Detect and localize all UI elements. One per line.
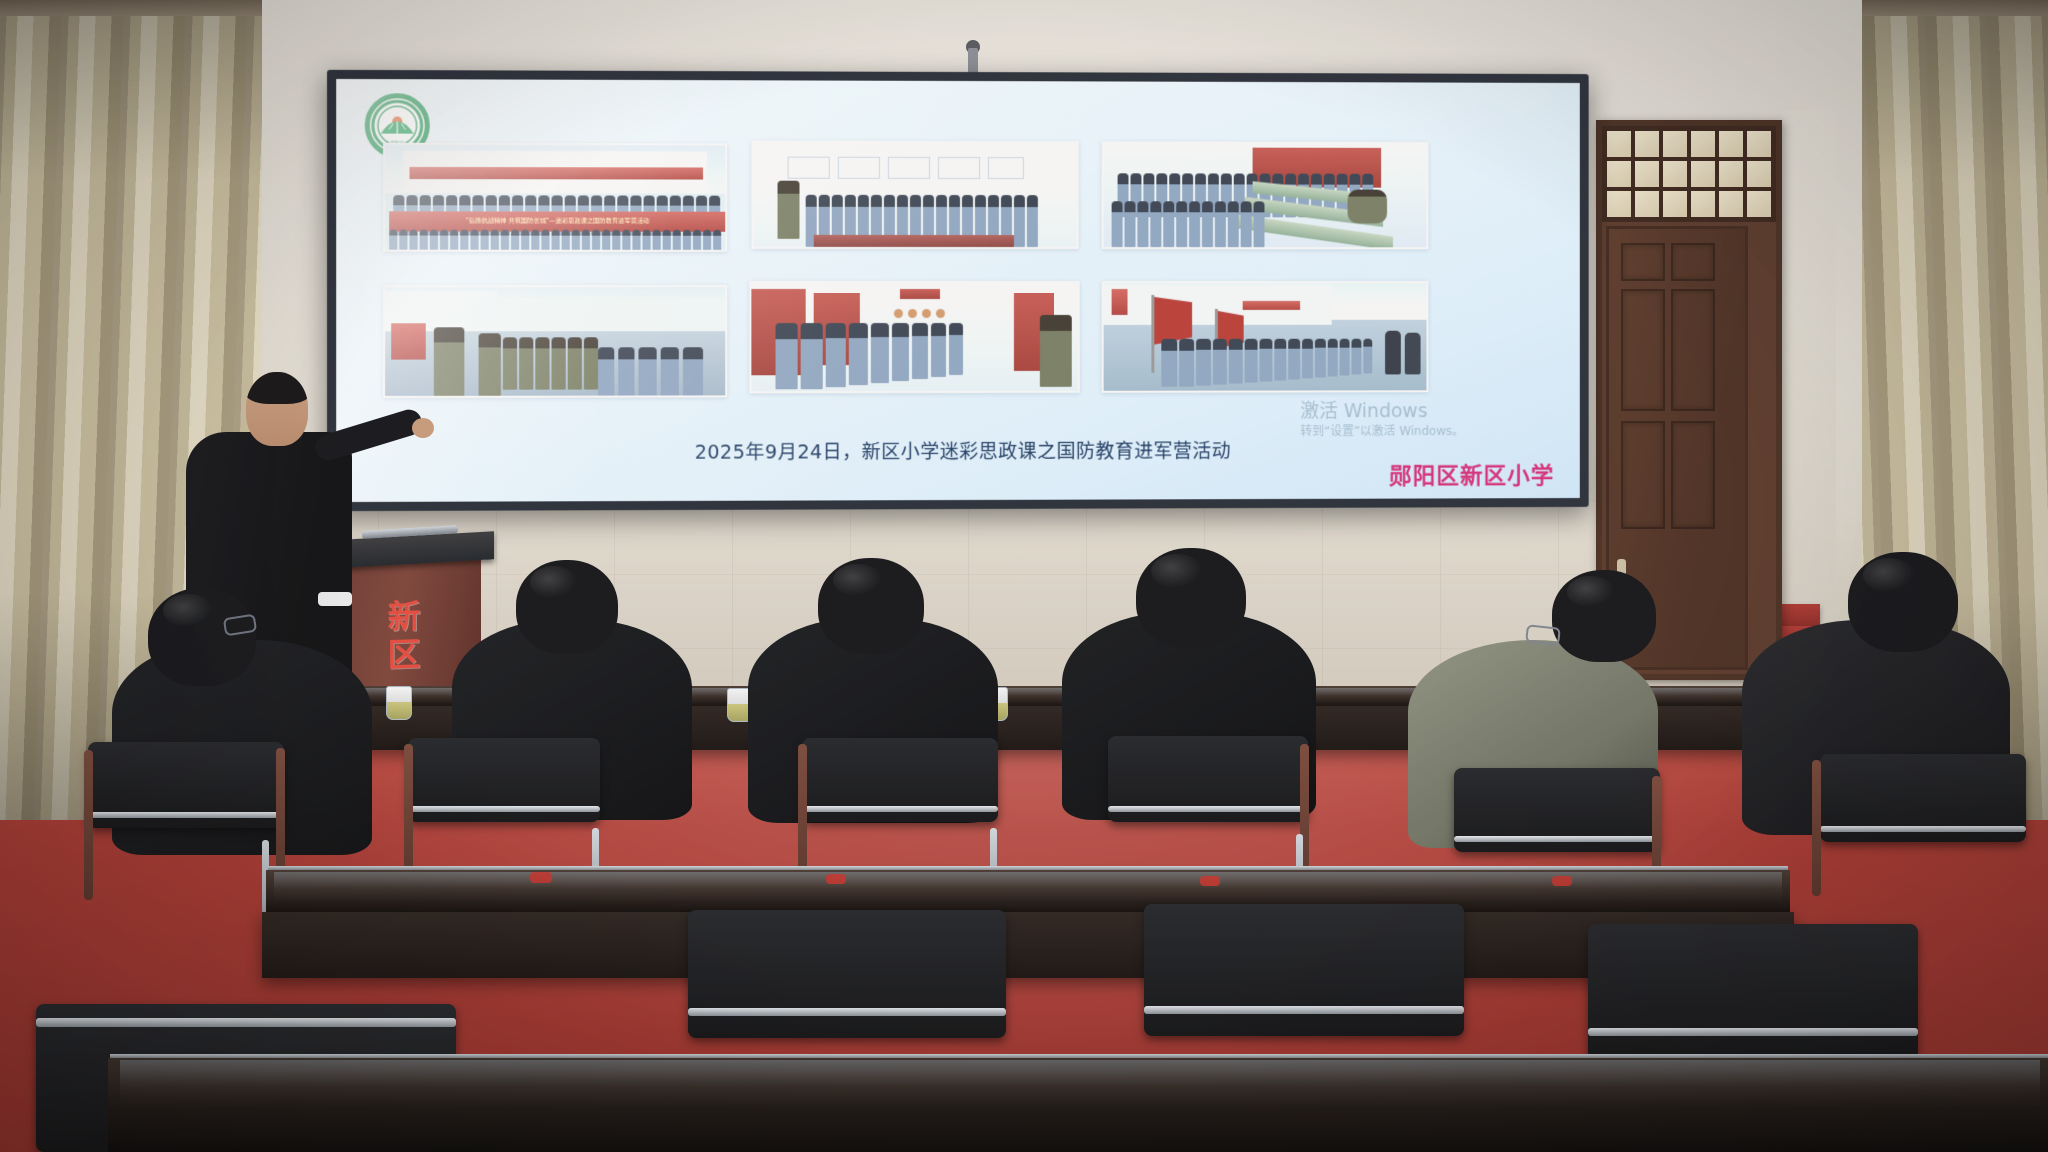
door-pane xyxy=(1719,131,1743,157)
slide-photo-5 xyxy=(749,281,1079,393)
chair-chrome-rail xyxy=(1108,806,1308,812)
front-foreground-table-gloss xyxy=(120,1060,2040,1108)
door-pane xyxy=(1719,191,1743,217)
photo-wall-frame xyxy=(988,157,1024,179)
photo-red-sign xyxy=(1112,289,1128,315)
slide-photo-6 xyxy=(1102,281,1429,393)
projection-screen-bezel: XINQU “弘扬抗战精神 共筑国防长城”—迷彩思政课之国防教育进军营活动 xyxy=(327,70,1589,511)
attendee-glasses-icon xyxy=(1525,624,1561,645)
chair-armrest xyxy=(404,744,413,884)
door-pane xyxy=(1663,131,1687,157)
chair-chrome-rail xyxy=(1144,1006,1464,1014)
attendee-hair-sheen xyxy=(1863,558,1914,592)
attendee-hair-sheen xyxy=(833,564,882,597)
watermark-line1: 激活 Windows xyxy=(1300,400,1464,424)
chair-chrome-rail xyxy=(802,806,998,812)
photo-figure-dark xyxy=(1385,331,1401,375)
photo-soldier xyxy=(434,327,464,398)
door-pane xyxy=(1691,161,1715,187)
chair-chrome-rail xyxy=(88,812,284,818)
attendee-hair-sheen xyxy=(1151,554,1202,588)
door-pane xyxy=(1747,161,1771,187)
paper-cup[interactable] xyxy=(386,686,412,720)
door-pane xyxy=(1663,161,1687,187)
attendee-hair-sheen xyxy=(530,566,577,598)
right-side-wall xyxy=(1782,110,1836,690)
photo-soldier-row xyxy=(503,337,598,389)
chair-chrome-rail xyxy=(1454,836,1660,842)
slide-photo-3 xyxy=(1102,141,1429,249)
podium-logo-text: 新区 xyxy=(372,597,436,677)
door-pane xyxy=(1635,131,1659,157)
cup-tea xyxy=(387,702,411,719)
presenter-hair xyxy=(246,372,308,404)
attendee-head xyxy=(148,588,256,686)
door-transom-window xyxy=(1602,126,1776,222)
chair-backrest xyxy=(688,910,1006,1038)
door-pane xyxy=(1607,131,1631,157)
curtain-rail-right xyxy=(1862,0,2048,16)
attendee-head xyxy=(1848,552,1958,652)
door-panel xyxy=(1621,289,1665,411)
photo-marching-row xyxy=(1161,339,1372,387)
attendee-head xyxy=(1552,570,1656,662)
slide-photo-1: “弘扬抗战精神 共筑国防长城”—迷彩思政课之国防教育进军营活动 xyxy=(383,143,727,252)
photo-student-row-front xyxy=(1112,201,1265,247)
attendee-head xyxy=(516,560,618,654)
chair-chrome-rail xyxy=(408,806,600,812)
table-marker-red[interactable] xyxy=(530,872,552,883)
screen-ceiling-mount xyxy=(968,48,978,74)
presenter-hand xyxy=(412,418,434,438)
slide-photo-4 xyxy=(383,285,727,398)
presenter-head xyxy=(246,372,308,446)
door-panel xyxy=(1621,421,1665,529)
photo-wall-frame xyxy=(938,157,980,179)
table-marker-red[interactable] xyxy=(826,874,846,884)
photo-medal xyxy=(936,309,945,318)
door-pane xyxy=(1635,161,1659,187)
attendee-head xyxy=(1136,548,1246,648)
chair-chrome-rail xyxy=(36,1018,456,1027)
door-pane xyxy=(1719,161,1743,187)
mid-table-apron xyxy=(262,912,1794,978)
door-panel xyxy=(1671,421,1715,529)
photo-soldier xyxy=(1348,190,1387,224)
chair-chrome-rail xyxy=(688,1008,1006,1016)
door-pane xyxy=(1607,161,1631,187)
photo-crowd-row-front xyxy=(389,229,721,251)
photo-figure-dark xyxy=(1405,333,1421,375)
chair-backrest xyxy=(1144,904,1464,1036)
door-pane xyxy=(1747,191,1771,217)
door-pane xyxy=(1747,131,1771,157)
attendee-head xyxy=(818,558,924,654)
door-panel xyxy=(1621,243,1665,281)
chair-armrest xyxy=(84,750,93,900)
table-marker-red[interactable] xyxy=(1552,876,1572,886)
photo-wall-frame xyxy=(888,157,930,179)
photo-soldier xyxy=(1040,315,1072,387)
photo-student-row xyxy=(776,323,963,389)
slide-school-name: 郧阳区新区小学 xyxy=(1389,456,1554,490)
photo-medal xyxy=(922,309,931,318)
door-pane xyxy=(1691,191,1715,217)
photo-building xyxy=(497,297,727,331)
slide-photo-2 xyxy=(751,141,1078,250)
windows-activation-watermark: 激活 Windows 转到“设置”以激活 Windows。 xyxy=(1300,400,1464,439)
chair-chrome-rail xyxy=(1820,826,2026,832)
photo-stage-banner xyxy=(409,167,703,180)
chair-armrest xyxy=(1812,760,1821,896)
photo-flagpole xyxy=(1151,295,1154,373)
photo-wall-frame xyxy=(788,157,830,179)
photo-wall-frame xyxy=(838,157,880,179)
photo-medal xyxy=(894,309,903,318)
door-pane xyxy=(1691,131,1715,157)
door-pane xyxy=(1607,191,1631,217)
curtain-rail-left xyxy=(0,0,262,16)
projection-screen[interactable]: XINQU “弘扬抗战精神 共筑国防长城”—迷彩思政课之国防教育进军营活动 xyxy=(336,79,1580,502)
chair-chrome-rail xyxy=(1588,1028,1918,1036)
photo-exhibit-header xyxy=(900,289,940,299)
door-panel xyxy=(1671,243,1715,281)
door-pane xyxy=(1635,191,1659,217)
attendee-hair-sheen xyxy=(163,594,213,627)
photo-soldier xyxy=(479,333,501,395)
photo-red-sign xyxy=(1243,301,1300,310)
door-pane xyxy=(1663,191,1687,217)
photo-desk xyxy=(814,235,1014,249)
chair-armrest xyxy=(798,744,807,884)
photo-red-sign xyxy=(391,323,426,359)
table-marker-red[interactable] xyxy=(1200,876,1220,886)
photo-medal xyxy=(908,309,917,318)
attendee-hair-sheen xyxy=(1567,576,1615,607)
door-panel xyxy=(1671,289,1715,411)
photo-soldier xyxy=(778,181,800,239)
chair-backrest xyxy=(1588,924,1918,1060)
presenter-clicker xyxy=(318,592,352,606)
screenshot-root: XINQU “弘扬抗战精神 共筑国防长城”—迷彩思政课之国防教育进军营活动 xyxy=(0,0,2048,1152)
photo-student-row xyxy=(598,347,703,397)
